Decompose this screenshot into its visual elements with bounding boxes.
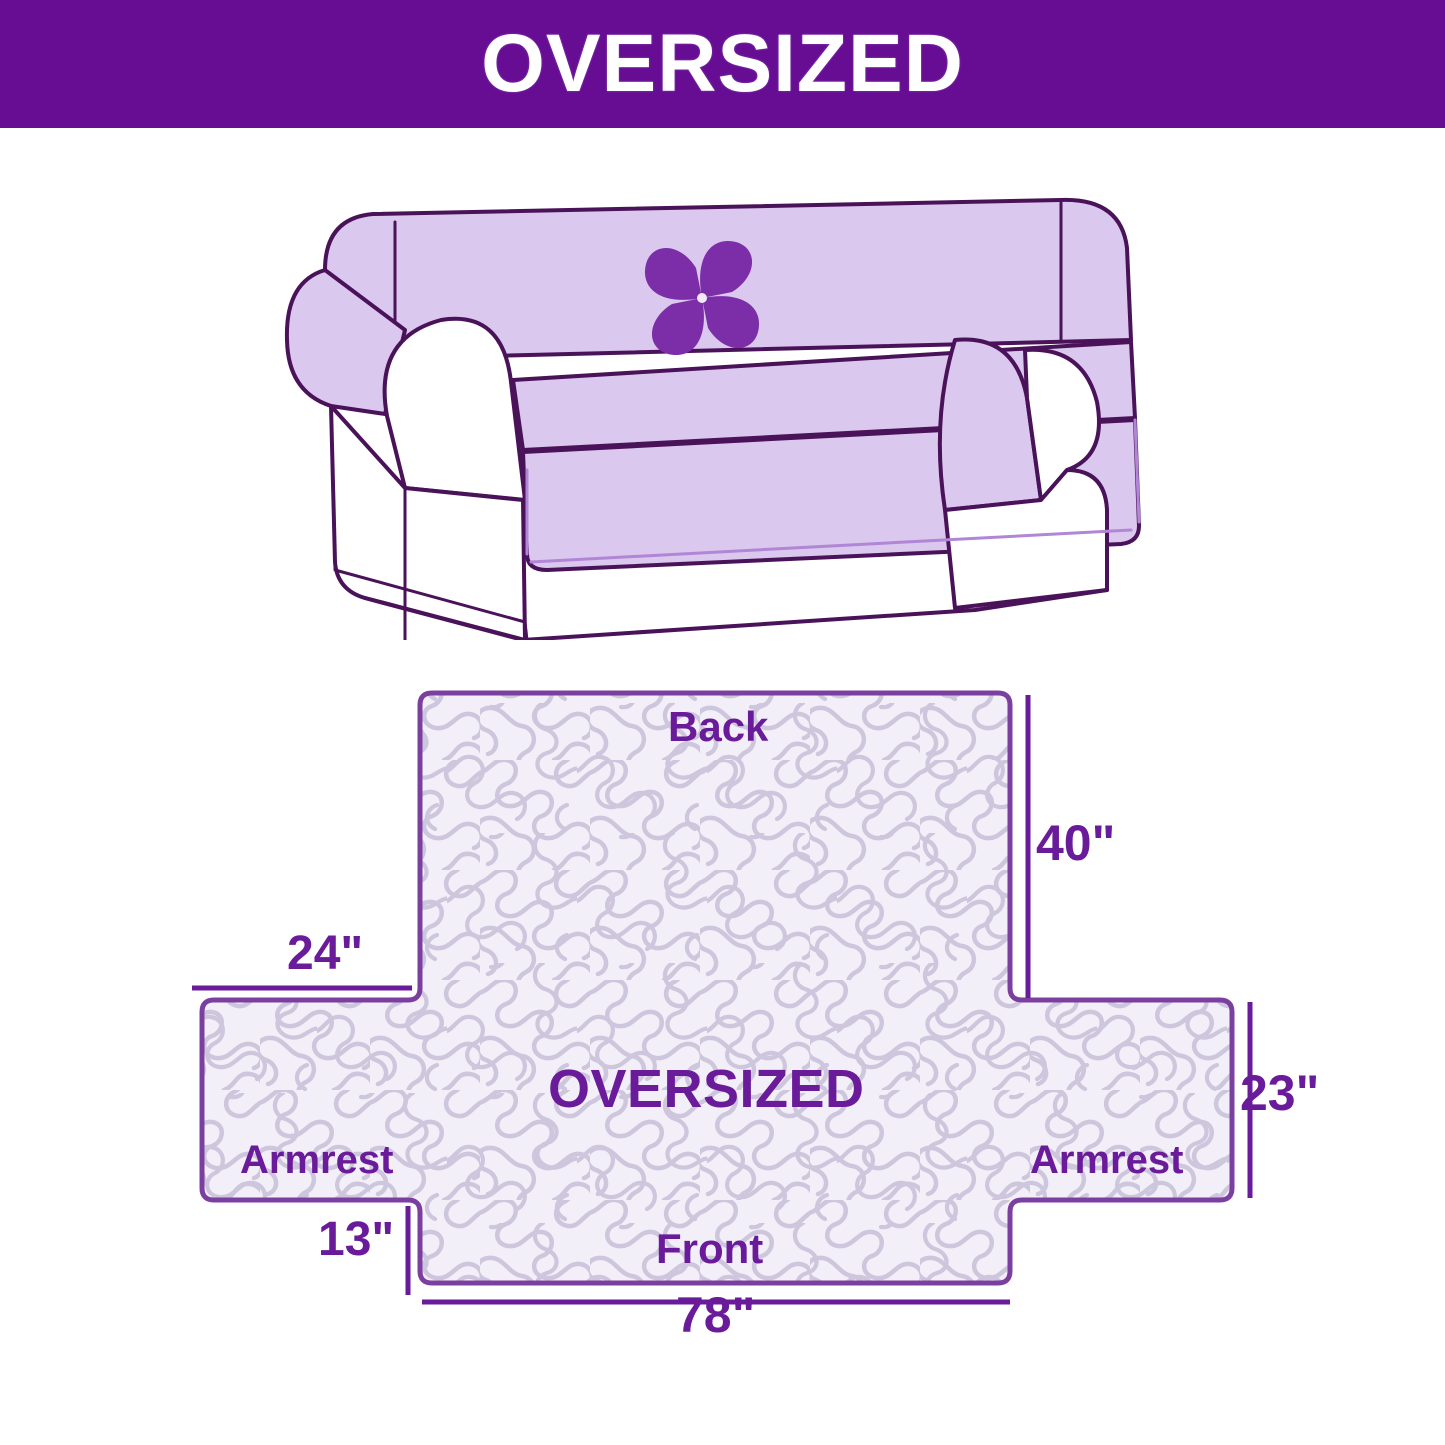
dimension-front-drop: 13" xyxy=(318,1216,394,1264)
label-oversized-center: OVERSIZED xyxy=(548,1062,865,1116)
pattern-body-texture2 xyxy=(420,693,1010,1283)
label-front: Front xyxy=(656,1228,763,1270)
label-armrest-left: Armrest xyxy=(240,1140,393,1180)
pinwheel-center-dot xyxy=(697,293,707,303)
sofa-line-drawing xyxy=(255,170,1205,640)
dimension-armrest-height: 23" xyxy=(1240,1068,1319,1118)
sofa-illustration xyxy=(255,170,1205,640)
header-banner: OVERSIZED xyxy=(0,0,1445,128)
dimension-total-width: 78" xyxy=(676,1290,755,1340)
product-size-chart: OVERSIZED xyxy=(0,0,1445,1445)
label-armrest-right: Armrest xyxy=(1030,1140,1183,1180)
label-back: Back xyxy=(668,706,768,748)
dimension-back-height: 40" xyxy=(1036,818,1115,868)
banner-title: OVERSIZED xyxy=(481,23,964,105)
dimension-armrest-width: 24" xyxy=(287,930,363,978)
